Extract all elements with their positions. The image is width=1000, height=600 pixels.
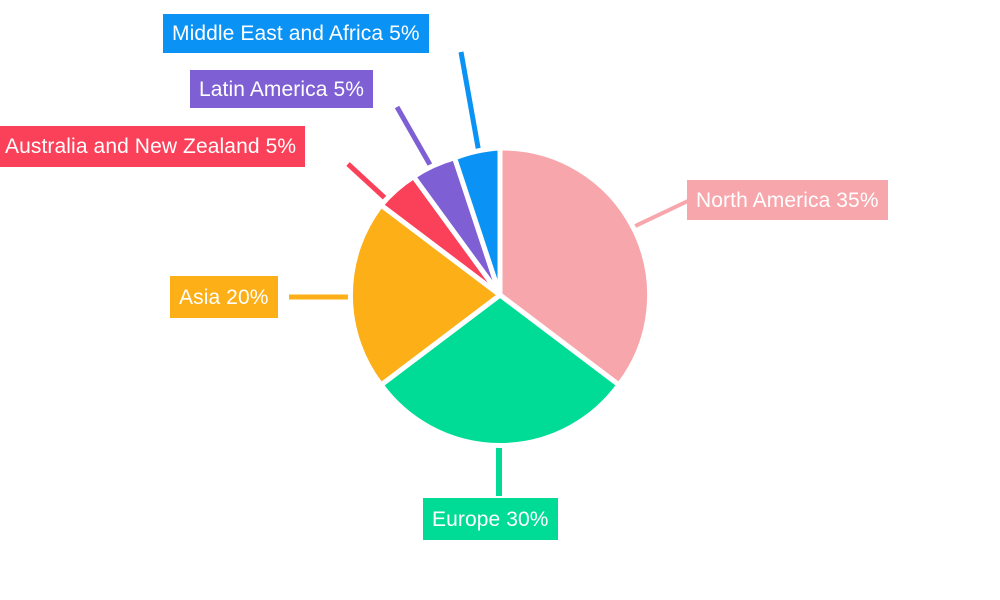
pie-label-middle-east-africa[interactable]: Middle East and Africa 5%	[163, 14, 429, 53]
pie-label-australia-new-zealand[interactable]: Australia and New Zealand 5%	[0, 126, 305, 167]
pie-chart-canvas: Middle East and Africa 5% Latin America …	[0, 0, 1000, 600]
pie-label-latin-america[interactable]: Latin America 5%	[190, 70, 373, 108]
pie-label-europe[interactable]: Europe 30%	[423, 498, 558, 540]
pie-label-north-america[interactable]: North America 35%	[687, 180, 888, 220]
leader-line-middle-east-africa	[461, 52, 479, 153]
pie-label-asia[interactable]: Asia 20%	[170, 276, 278, 318]
leader-line-north-america	[629, 200, 690, 229]
